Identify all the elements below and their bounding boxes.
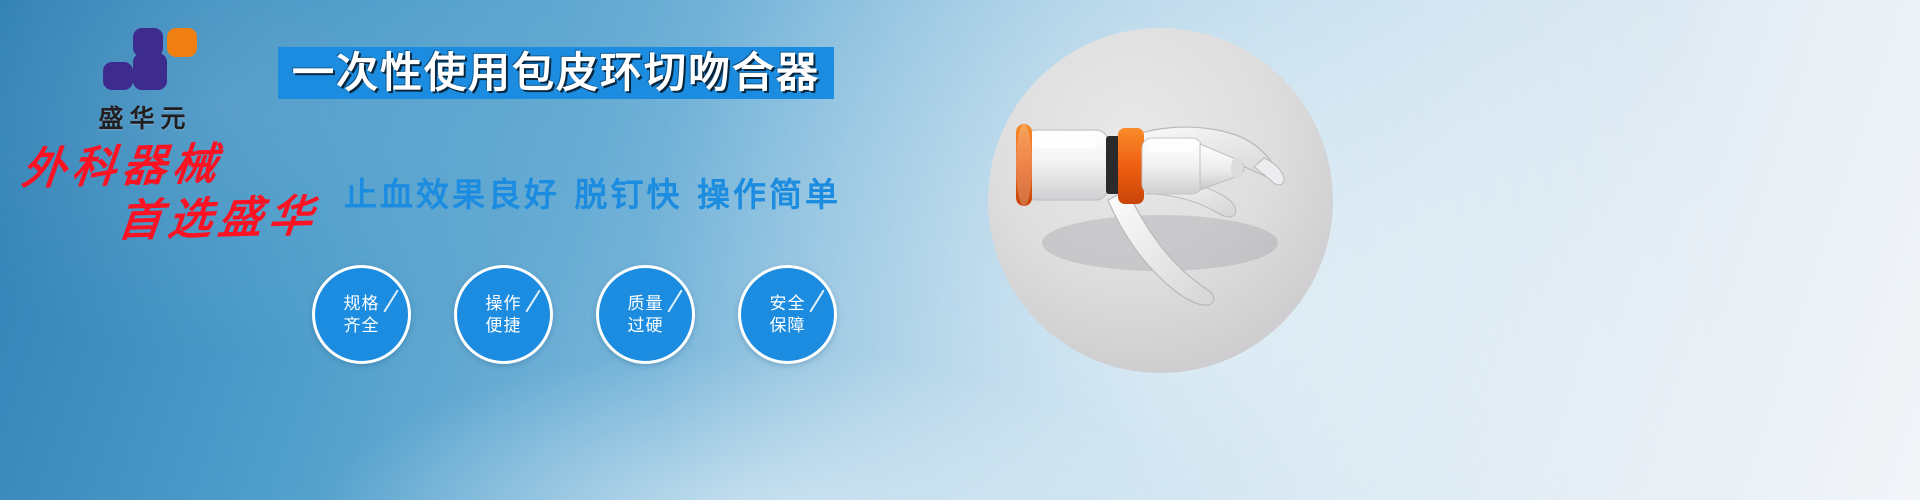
logo-block-purple-center <box>133 53 167 90</box>
logo-mark-icon <box>103 28 187 90</box>
badge-label-line2: 齐全 <box>344 315 380 337</box>
calligraphy-line-2: 首选盛华 <box>116 194 355 244</box>
badge-label-line1: 操作 <box>486 293 522 315</box>
feature-badge-2[interactable]: 操作 便捷 <box>454 265 553 364</box>
calligraphy-slogan: 外科器械 首选盛华 <box>22 148 352 244</box>
logo-block-purple-left <box>103 62 133 90</box>
badge-slash-decoration <box>525 289 540 312</box>
feature-badge-1[interactable]: 规格 齐全 <box>312 265 411 364</box>
product-image-circle <box>988 28 1333 373</box>
headline-text: 一次性使用包皮环切吻合器 <box>292 47 820 99</box>
feature-badge-4[interactable]: 安全 保障 <box>738 265 837 364</box>
badge-slash-decoration <box>667 289 682 312</box>
badge-slash-decoration <box>383 289 398 312</box>
feature-badge-list: 规格 齐全 操作 便捷 质量 过硬 安全 保障 <box>312 265 837 364</box>
brand-name: 盛华元 <box>60 99 230 135</box>
subheadline-text: 止血效果良好 脱钉快 操作简单 <box>344 168 841 216</box>
promo-banner: 盛华元 外科器械 首选盛华 一次性使用包皮环切吻合器 止血效果良好 脱钉快 操作… <box>0 0 1920 500</box>
calligraphy-line-1: 外科器械 <box>20 139 355 192</box>
feature-badge-3[interactable]: 质量 过硬 <box>596 265 695 364</box>
logo-block-orange <box>167 28 197 57</box>
headline-banner: 一次性使用包皮环切吻合器 <box>278 47 834 99</box>
product-illustration <box>988 28 1333 373</box>
brand-logo[interactable]: 盛华元 <box>60 28 230 135</box>
badge-label-line1: 安全 <box>770 293 806 315</box>
badge-slash-decoration <box>809 289 824 312</box>
badge-label-line2: 过硬 <box>628 315 664 337</box>
badge-label-line1: 质量 <box>628 293 664 315</box>
badge-label-line2: 便捷 <box>486 315 522 337</box>
badge-label-line2: 保障 <box>770 315 806 337</box>
badge-label-line1: 规格 <box>344 293 380 315</box>
